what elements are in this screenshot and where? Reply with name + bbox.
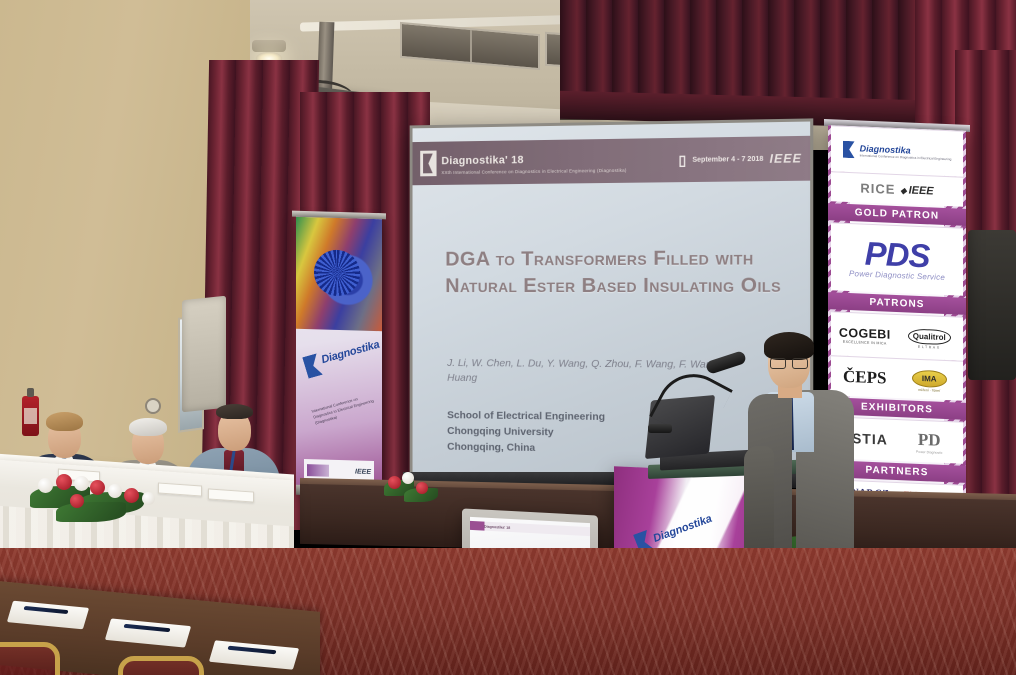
slide-header-brand-block: Diagnostika' 18 XXth International Confe… [441, 149, 626, 175]
organizer-logos-row: RICE IEEE [831, 171, 963, 207]
slide-title: DGA to Transformers Filled with Natural … [445, 244, 784, 300]
wall-speaker [182, 296, 226, 413]
pds-tagline: Power Diagnostic Service [849, 269, 945, 282]
diagnostika-logo-icon [420, 151, 436, 177]
red-rose [56, 474, 72, 490]
downlight-housing [252, 40, 286, 52]
qualitrol-logo-icon: Qualitrol [908, 328, 951, 345]
monitor-slide-header: Diagnostika' 18 [470, 521, 590, 536]
pd-logo-icon: PD [900, 429, 960, 451]
ieee-logo-icon: IEEE [900, 184, 933, 197]
chairperson-hair [216, 404, 253, 419]
gold-patron-logos: PDS Power Diagnostic Service [831, 222, 963, 296]
flower-arrangement [30, 462, 170, 524]
red-rose [388, 476, 401, 489]
white-rose [108, 484, 122, 498]
chair [118, 656, 204, 675]
slide-header-brand: Diagnostika' 18 [441, 154, 523, 167]
panelist-hair [129, 418, 167, 436]
qualitrol-tagline: ELTRAX [900, 344, 960, 350]
monitor-header-text: Diagnostika' 18 [484, 524, 510, 529]
white-rose [38, 478, 53, 493]
ima-logo-icon: IMA [912, 369, 947, 387]
panelist-hair [46, 412, 83, 431]
slide-header-date: September 4 - 7 2018 [692, 155, 763, 163]
powerdiagnostix-logo: PD Power Diagnostix [900, 429, 960, 455]
white-rose [402, 472, 414, 484]
ieee-logo-icon: IEEE [770, 151, 802, 166]
flower-arrangement [380, 462, 450, 510]
presenter-hair [764, 332, 814, 360]
ima-tagline: měření · řízení [900, 387, 960, 393]
white-rose [74, 476, 89, 491]
ima-logo: IMA měření · řízení [900, 367, 960, 393]
chair [0, 642, 60, 675]
banner-logo-text: Diagnostika [320, 339, 381, 367]
foliage [56, 502, 126, 522]
wall-speaker [968, 230, 1016, 380]
left-rollup-banner: Diagnostika International Conference on … [296, 217, 382, 491]
slide-header-subtitle: XXth International Conference on Diagnos… [441, 168, 626, 175]
pds-logo-icon: PDS [865, 238, 930, 272]
white-rose [142, 492, 155, 505]
slide-header-right: ▯ September 4 - 7 2018 IEEE [678, 150, 801, 169]
diagnostika-logo-icon [843, 141, 855, 159]
qualitrol-logo: Qualitrol ELTRAX [900, 325, 960, 350]
rice-logo-icon: RICE [860, 180, 895, 196]
red-rose [90, 480, 105, 495]
banner-footer-logo-icon [307, 464, 329, 477]
conference-mark-icon: ▯ [678, 151, 686, 168]
slide-header-bar: Diagnostika' 18 XXth International Confe… [413, 136, 811, 185]
wall-clock-icon [145, 398, 161, 414]
sponsor-banner-header: Diagnostika International Conference on … [831, 125, 963, 177]
red-rose [70, 494, 84, 508]
banner-logo: Diagnostika [302, 338, 377, 394]
conference-photo-scene: Diagnostika' 18 XXth International Confe… [0, 0, 1016, 675]
glasses-icon [770, 358, 808, 367]
red-rose [416, 482, 428, 494]
red-rose [124, 488, 139, 503]
ieee-logo-icon: IEEE [355, 468, 371, 475]
banner-subtitle: International Conference on Diagnostics … [311, 392, 377, 426]
banner-photo-collage [296, 217, 382, 331]
